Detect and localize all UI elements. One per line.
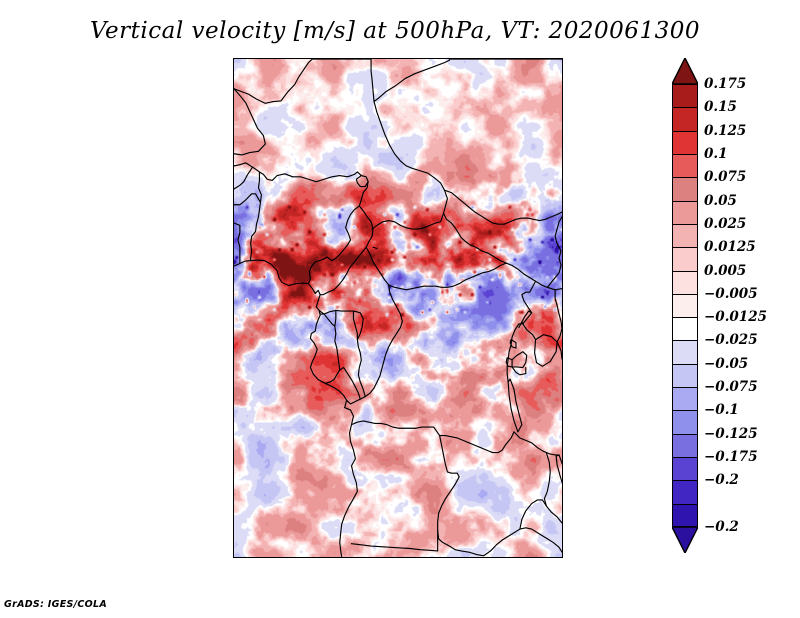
colorbar-band	[672, 84, 698, 107]
colorbar-tick-label: 0.15	[704, 99, 737, 115]
x-axis-tick	[401, 557, 403, 558]
x-axis-tick	[283, 557, 285, 558]
colorbar-tick-label: −0.125	[704, 426, 758, 442]
colorbar-band	[672, 201, 698, 224]
country-borders-overlay	[234, 59, 562, 557]
colorbar-tick-label: 0.005	[704, 263, 746, 279]
x-axis-tick	[520, 557, 522, 558]
colorbar-band	[672, 294, 698, 317]
colorbar: 0.1750.150.1250.10.0750.050.0250.01250.0…	[672, 58, 698, 553]
colorbar-tick-label: −0.1	[704, 402, 739, 418]
y-axis-tick	[233, 522, 234, 524]
y-axis-tick	[233, 279, 234, 281]
y-axis-tick	[233, 218, 234, 220]
page-title: Vertical velocity [m/s] at 500hPa, VT: 2…	[0, 18, 790, 44]
x-axis-tick	[490, 557, 492, 558]
colorbar-tick-label: 0.025	[704, 216, 746, 232]
colorbar-band	[672, 131, 698, 154]
colorbar-tick-label: −0.175	[704, 449, 758, 465]
y-axis-tick	[233, 157, 234, 159]
x-axis-tick	[372, 557, 374, 558]
colorbar-band	[672, 107, 698, 130]
colorbar-tick-label: −0.05	[704, 356, 748, 372]
x-axis-tick	[549, 557, 551, 558]
colorbar-band	[672, 177, 698, 200]
map-plot-area: 20N15N10N5NEQ5S10S15S3E6E9E12E15E18E21E2…	[233, 58, 563, 558]
colorbar-band	[672, 317, 698, 340]
colorbar-band	[672, 504, 698, 527]
colorbar-tick-label: −0.0125	[704, 309, 767, 325]
colorbar-tick-label: −0.075	[704, 379, 758, 395]
colorbar-band	[672, 224, 698, 247]
x-axis-tick	[254, 557, 256, 558]
x-axis-tick	[313, 557, 315, 558]
colorbar-band	[672, 154, 698, 177]
colorbar-tick-label: −0.025	[704, 332, 758, 348]
colorbar-band	[672, 480, 698, 503]
colorbar-tick-label: 0.1	[704, 146, 728, 162]
y-axis-tick	[233, 96, 234, 98]
colorbar-band	[672, 340, 698, 363]
y-axis-tick	[233, 461, 234, 463]
colorbar-min-arrow	[672, 527, 698, 553]
colorbar-tick-label: −0.005	[704, 286, 758, 302]
grads-footer: GrADS: IGES/COLA	[4, 599, 107, 610]
colorbar-tick-label: 0.075	[704, 169, 746, 185]
x-axis-tick	[431, 557, 433, 558]
x-axis-tick	[342, 557, 344, 558]
colorbar-band	[672, 271, 698, 294]
colorbar-tick-label: −0.2	[704, 519, 739, 535]
colorbar-tick-label: 0.175	[704, 76, 746, 92]
colorbar-tick-label: −0.2	[704, 472, 739, 488]
colorbar-band	[672, 457, 698, 480]
colorbar-tick-label: 0.0125	[704, 239, 756, 255]
colorbar-max-arrow	[672, 58, 698, 84]
colorbar-band	[672, 434, 698, 457]
colorbar-band	[672, 364, 698, 387]
colorbar-band	[672, 247, 698, 270]
x-axis-tick	[461, 557, 463, 558]
colorbar-band	[672, 387, 698, 410]
colorbar-band	[672, 410, 698, 433]
colorbar-tick-label: 0.05	[704, 193, 737, 209]
y-axis-tick	[233, 339, 234, 341]
y-axis-tick	[233, 400, 234, 402]
colorbar-tick-label: 0.125	[704, 123, 746, 139]
